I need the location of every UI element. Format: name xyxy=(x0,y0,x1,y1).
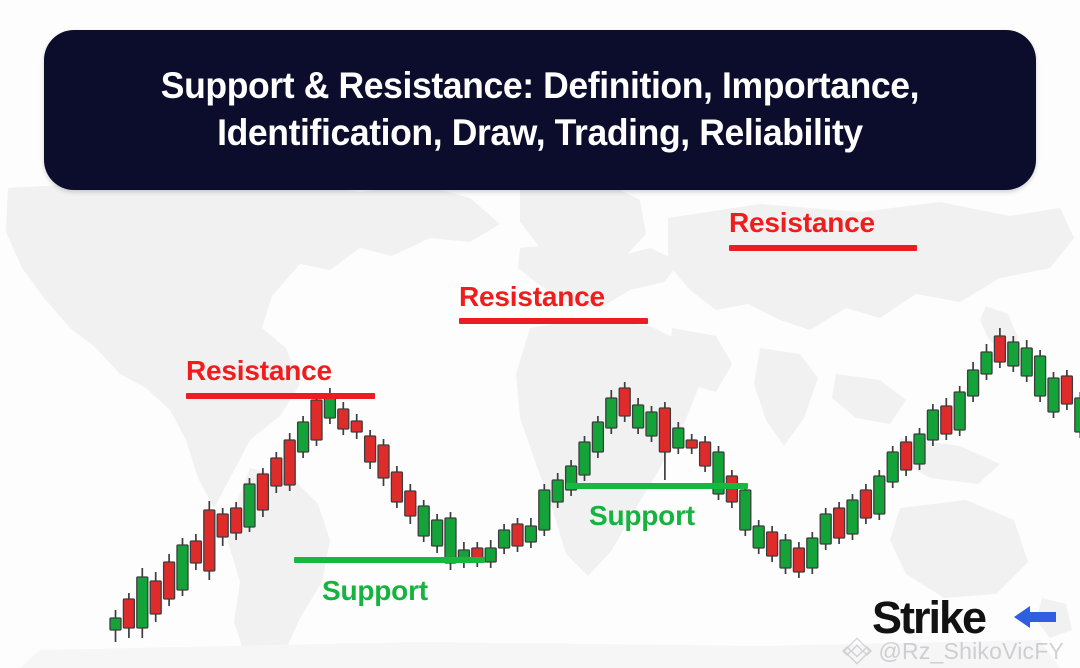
candlestick xyxy=(458,542,469,568)
candlestick xyxy=(686,434,697,454)
candlestick xyxy=(137,568,148,638)
candlestick xyxy=(968,362,979,402)
candlestick xyxy=(284,433,295,491)
strike-logo: Strike xyxy=(872,588,1058,640)
diamond-logo-icon xyxy=(842,636,872,666)
candlestick xyxy=(150,572,161,622)
candlestick xyxy=(525,518,536,548)
candlestick xyxy=(847,494,858,540)
resistance-line xyxy=(459,318,648,324)
candlestick xyxy=(807,532,818,574)
candlestick xyxy=(311,394,322,446)
candlestick xyxy=(726,470,737,508)
candlestick xyxy=(780,534,791,574)
candlestick xyxy=(740,484,751,536)
candlestick xyxy=(914,428,925,470)
candlestick xyxy=(391,466,402,508)
candlestick xyxy=(1061,370,1072,410)
candlestick xyxy=(552,473,563,508)
candlestick xyxy=(713,446,724,500)
infographic-canvas: Support & Resistance: Definition, Import… xyxy=(0,0,1080,668)
candlestick xyxy=(204,501,215,580)
support-line xyxy=(566,483,748,489)
candlestick xyxy=(994,328,1005,368)
candlestick xyxy=(860,484,871,524)
candlestick xyxy=(646,406,657,442)
candlestick xyxy=(1035,350,1046,402)
candlestick xyxy=(566,460,577,496)
support-label: Support xyxy=(589,500,695,532)
resistance-label: Resistance xyxy=(729,207,875,239)
support-line xyxy=(294,557,485,563)
candlestick xyxy=(432,514,443,553)
candlestick xyxy=(954,386,965,436)
candlestick xyxy=(981,344,992,380)
candlestick xyxy=(874,470,885,520)
candlestick xyxy=(834,502,845,544)
title-banner: Support & Resistance: Definition, Import… xyxy=(44,30,1036,190)
candlestick xyxy=(1008,336,1019,372)
candlestick xyxy=(472,542,483,567)
candlestick xyxy=(1021,340,1032,382)
candlestick xyxy=(499,524,510,554)
candlestick xyxy=(298,416,309,458)
candlestick xyxy=(820,508,831,550)
candlestick xyxy=(1075,392,1080,438)
candlestick xyxy=(257,468,268,517)
resistance-line xyxy=(186,393,375,399)
candlestick xyxy=(512,518,523,552)
candlestick xyxy=(338,402,349,435)
candlestick xyxy=(539,484,550,536)
candlestick xyxy=(941,398,952,440)
candlestick xyxy=(1048,372,1059,418)
candlestick xyxy=(700,436,711,472)
candlestick xyxy=(110,610,121,642)
candlestick xyxy=(673,422,684,454)
candlestick xyxy=(592,416,603,458)
candlestick xyxy=(164,554,175,606)
candlestick xyxy=(365,430,376,469)
candlestick xyxy=(231,502,242,540)
candlestick xyxy=(418,500,429,542)
support-label: Support xyxy=(322,575,428,607)
candlestick xyxy=(619,382,630,422)
title-line-2: Identification, Draw, Trading, Reliabili… xyxy=(217,112,863,153)
watermark: @Rz_ShikoVicFY xyxy=(842,636,1064,666)
candlestick xyxy=(659,402,670,480)
candlestick xyxy=(633,398,644,434)
logo-wordmark: Strike xyxy=(872,595,985,640)
candlestick xyxy=(767,526,778,562)
resistance-line xyxy=(729,245,917,251)
candlestick xyxy=(217,508,228,546)
blue-wedge-icon xyxy=(1012,604,1056,630)
resistance-label: Resistance xyxy=(459,281,605,313)
candlestick xyxy=(244,478,255,532)
candlestick xyxy=(579,436,590,481)
candlestick xyxy=(351,414,362,439)
candlestick xyxy=(378,439,389,486)
resistance-label: Resistance xyxy=(186,355,332,387)
candlestick xyxy=(271,452,282,493)
candlestick xyxy=(405,484,416,524)
candlestick xyxy=(485,540,496,568)
watermark-handle: @Rz_ShikoVicFY xyxy=(878,638,1064,665)
candlestick xyxy=(887,446,898,488)
candlestick xyxy=(177,538,188,596)
page-title: Support & Resistance: Definition, Import… xyxy=(136,63,944,157)
candlestick xyxy=(753,520,764,554)
candlestick xyxy=(927,404,938,446)
candlestick xyxy=(901,436,912,476)
title-line-1: Support & Resistance: Definition, Import… xyxy=(161,65,919,106)
candlestick xyxy=(123,593,134,638)
candlestick xyxy=(190,534,201,570)
candlestick xyxy=(793,542,804,578)
candlestick xyxy=(606,390,617,434)
